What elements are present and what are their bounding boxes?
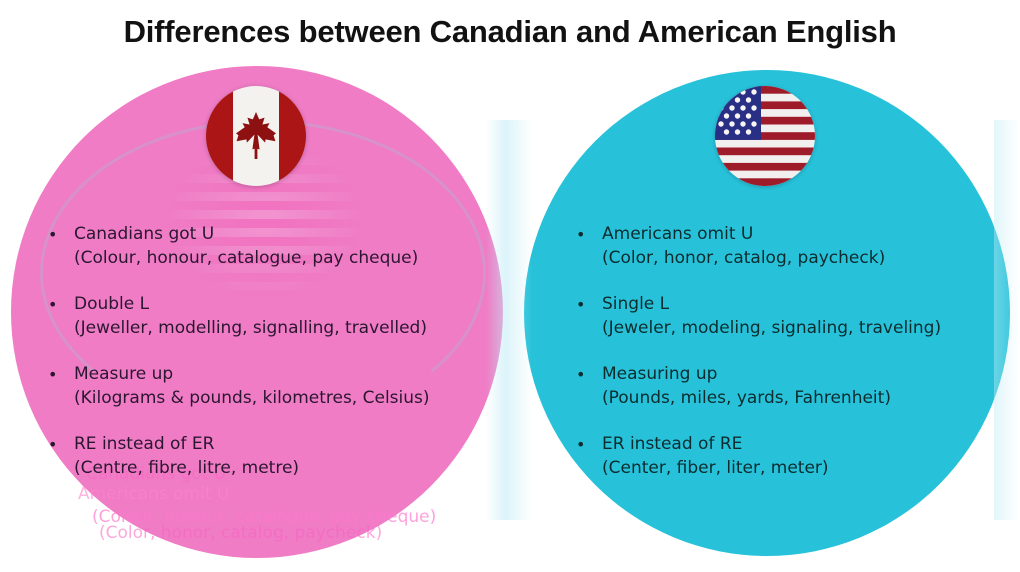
bullet-dot-icon: •: [44, 433, 74, 456]
list-item-heading: Canadians got U: [74, 223, 496, 246]
usa-flag-icon: [715, 86, 815, 186]
list-item-heading: RE instead of ER: [74, 433, 496, 456]
bullet-dot-icon: •: [572, 363, 602, 386]
bullet-dot-icon: •: [572, 433, 602, 456]
bullet-dot-icon: •: [44, 293, 74, 316]
list-item: • Double L (Jeweller, modelling, signall…: [44, 293, 496, 340]
list-item-heading: Measure up: [74, 363, 496, 386]
list-item-heading: Americans omit U: [602, 223, 1004, 246]
bullet-dot-icon: •: [44, 363, 74, 386]
bullet-dot-icon: •: [572, 293, 602, 316]
canada-bullet-list: • Canadians got U (Colour, honour, catal…: [44, 223, 496, 480]
page-title: Differences between Canadian and America…: [0, 14, 1020, 50]
list-item: • Measuring up (Pounds, miles, yards, Fa…: [572, 363, 1004, 410]
list-item-heading: ER instead of RE: [602, 433, 1004, 456]
list-item: • Measure up (Kilograms & pounds, kilome…: [44, 363, 496, 410]
bullet-dot-icon: •: [572, 223, 602, 246]
list-item-examples: (Centre, fibre, litre, metre): [74, 456, 496, 480]
usa-bullet-list: • Americans omit U (Color, honor, catalo…: [572, 223, 1004, 480]
list-item-examples: (Jeweller, modelling, signalling, travel…: [74, 316, 496, 340]
list-item: • Single L (Jeweler, modeling, signaling…: [572, 293, 1004, 340]
list-item: • Canadians got U (Colour, honour, catal…: [44, 223, 496, 270]
list-item: • ER instead of RE (Center, fiber, liter…: [572, 433, 1004, 480]
list-item: • Americans omit U (Color, honor, catalo…: [572, 223, 1004, 270]
bullet-dot-icon: •: [44, 223, 74, 246]
list-item-heading: Single L: [602, 293, 1004, 316]
list-item-examples: (Kilograms & pounds, kilometres, Celsius…: [74, 386, 496, 410]
list-item-heading: Measuring up: [602, 363, 1004, 386]
list-item-examples: (Pounds, miles, yards, Fahrenheit): [602, 386, 1004, 410]
list-item-examples: (Center, fiber, liter, meter): [602, 456, 1004, 480]
list-item: • RE instead of ER (Centre, fibre, litre…: [44, 433, 496, 480]
list-item-heading: Double L: [74, 293, 496, 316]
canada-flag-icon: [206, 86, 306, 186]
list-item-examples: (Jeweler, modeling, signaling, traveling…: [602, 316, 1004, 340]
list-item-examples: (Colour, honour, catalogue, pay cheque): [74, 246, 496, 270]
list-item-examples: (Color, honor, catalog, paycheck): [602, 246, 1004, 270]
